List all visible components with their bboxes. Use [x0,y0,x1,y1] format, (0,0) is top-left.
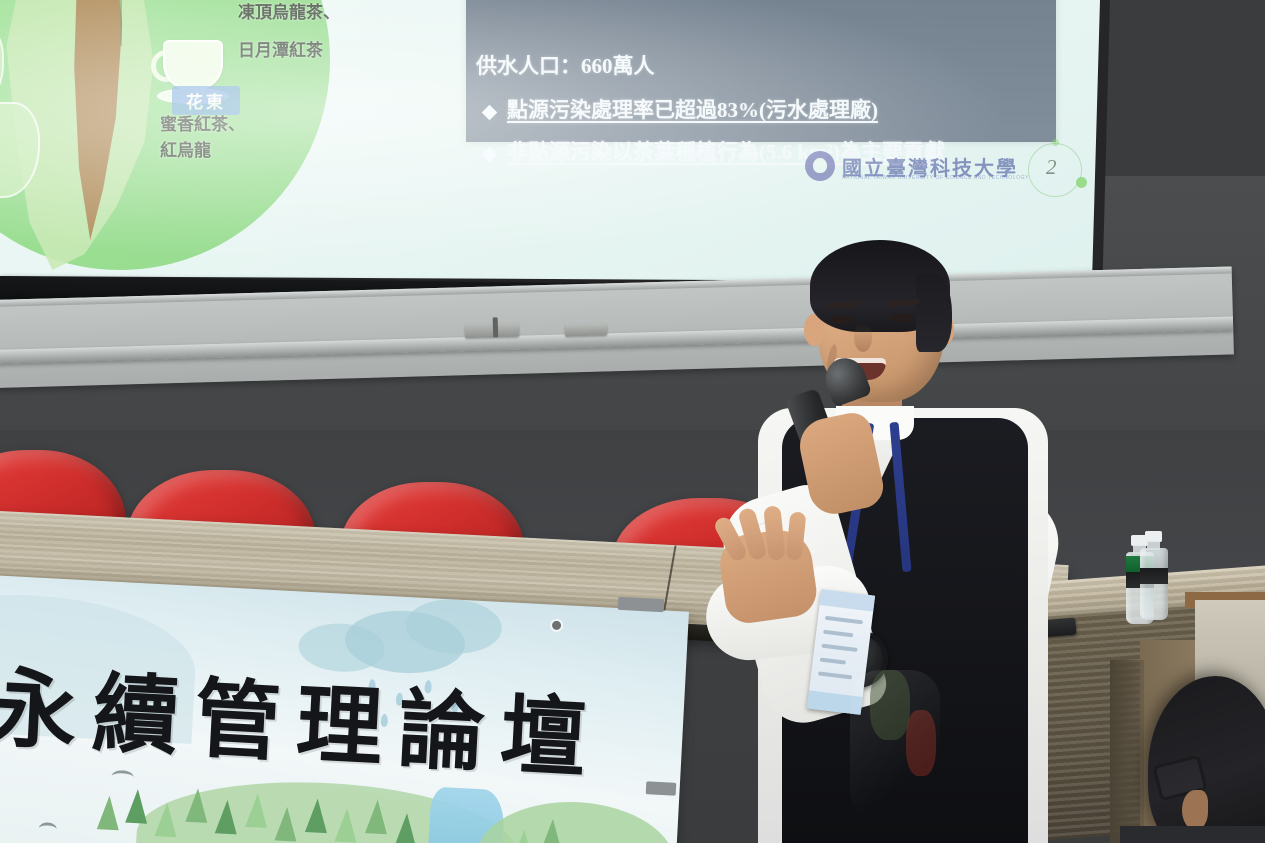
map-leader-line [120,0,122,46]
tree [540,818,564,843]
slide-bullet-1-text: 點源污染處理率已超過83%(污水處理廠) [507,98,878,122]
tree [215,799,239,834]
tree [334,808,358,843]
badge-text-line [820,658,846,665]
slide-footer: 國立臺灣科技大學 NATIONAL TAIWAN UNIVERSITY OF S… [800,145,1100,205]
whiteboard-marker[interactable] [493,317,499,337]
hill-right [473,797,679,843]
bird-silhouette [38,822,57,836]
speaker-hair-side [916,274,952,352]
accent-dot [1076,177,1087,188]
tree [245,793,269,828]
accent-dot [1052,139,1059,146]
tree [125,789,149,824]
ntust-name-english: NATIONAL TAIWAN UNIVERSITY OF SCIENCE AN… [842,175,1029,181]
tree [305,798,329,833]
speaker-nose [854,324,872,352]
map-label-dongding: 凍頂烏龍茶、 [238,2,340,25]
banner-title: 區永續管理論壇 [0,632,606,794]
slide-text-panel: 供水人口：660萬人 點源污染處理率已超過83%(污水處理廠) 非點源污染以茶葉… [466,0,1056,142]
conference-photo-scene: 凍頂烏龍茶、 日月潭紅茶 花東 蜜香紅茶、 紅烏龍 供水人口：660萬人 點源污… [0,0,1265,843]
vest-sheen [850,670,940,820]
speaker-eye-left [830,316,854,324]
banner-grommet [552,621,561,630]
banner-clip[interactable] [618,597,665,612]
slide-heading: 供水人口：660萬人 [476,50,655,80]
audience-ear [1182,790,1208,830]
tree [154,802,178,837]
map-label-red-oolong: 紅烏龍 [160,140,211,163]
tree [274,806,298,841]
badge-text-line [821,644,857,652]
map-region-chip-huatung: 花東 [172,86,240,115]
ntust-logo-icon [805,151,835,181]
speaker-person [700,240,1120,843]
badge-text-line [825,616,863,625]
slide-bullet-1: 點源污染處理率已超過83%(污水處理廠) [484,94,878,124]
map-label-sunmoonlake: 日月潭紅茶 [238,40,323,63]
whiteboard-eraser[interactable] [565,323,607,336]
bird-silhouette [111,770,134,784]
slide-page-number: 2 [1046,155,1057,180]
audience-shoulder [1120,826,1265,843]
banner-clip[interactable] [646,781,677,796]
tree [394,813,418,843]
tree [97,795,121,830]
tree [185,788,209,823]
bottle-label [1140,568,1168,584]
badge-text-line [818,671,852,679]
tree [512,829,536,843]
bottle-body [1140,548,1168,620]
badge-text-line [823,630,853,638]
speaker-eye-right [890,314,914,322]
event-banner: 區永續管理論壇 [0,572,689,843]
tree [365,799,389,834]
teacup-body [163,40,223,90]
bullet-diamond-icon [482,146,498,162]
bullet-diamond-icon [482,104,498,120]
map-label-honey-black-tea: 蜜香紅茶、 [160,114,245,137]
